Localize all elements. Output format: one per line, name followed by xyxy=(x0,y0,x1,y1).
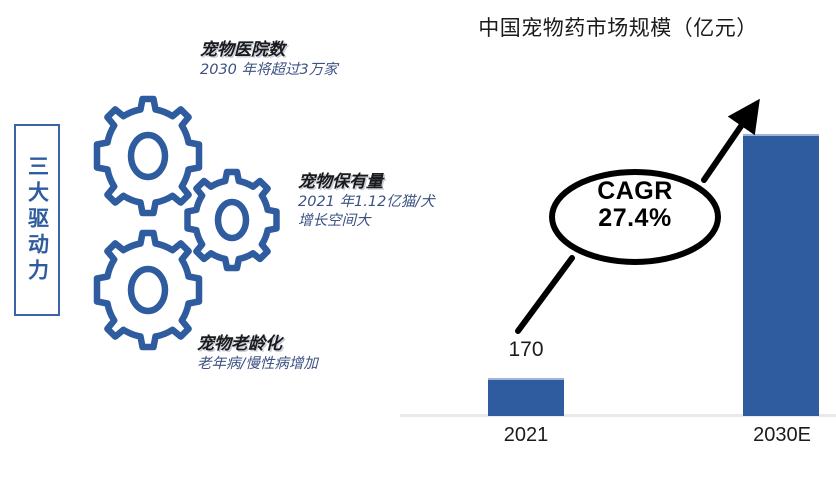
gear-icon-1 xyxy=(97,99,199,213)
cagr-arrow-svg xyxy=(400,0,836,483)
callout-pet-hospitals: 宠物医院数 2030 年将超过3万家 xyxy=(200,40,338,80)
gear-icon-2 xyxy=(188,172,277,268)
cagr-text-block: CAGR 27.4% xyxy=(552,178,718,232)
market-size-chart: 中国宠物药市场规模（亿元） 170 1500 2021 2030E xyxy=(400,0,836,483)
callout-pet-aging: 宠物老龄化 老年病/慢性病增加 xyxy=(197,334,318,374)
cagr-annotation: CAGR 27.4% xyxy=(400,0,836,483)
callout-title: 宠物医院数 xyxy=(200,40,338,61)
slide-canvas: 三大驱动力 xyxy=(0,0,836,483)
callout-title: 宠物老龄化 xyxy=(197,334,318,355)
gear-icon-3 xyxy=(97,233,199,347)
callout-subtitle-line: 2030 年将超过3万家 xyxy=(200,61,338,80)
cagr-arrow-upper-segment xyxy=(704,116,748,180)
callout-subtitle-line: 老年病/慢性病增加 xyxy=(197,355,318,374)
cagr-label: CAGR xyxy=(552,178,718,205)
three-drivers-box: 三大驱动力 xyxy=(14,124,60,316)
cagr-arrow-lower-segment xyxy=(518,258,572,331)
three-drivers-label: 三大驱动力 xyxy=(27,155,48,285)
cagr-value: 27.4% xyxy=(552,205,718,232)
